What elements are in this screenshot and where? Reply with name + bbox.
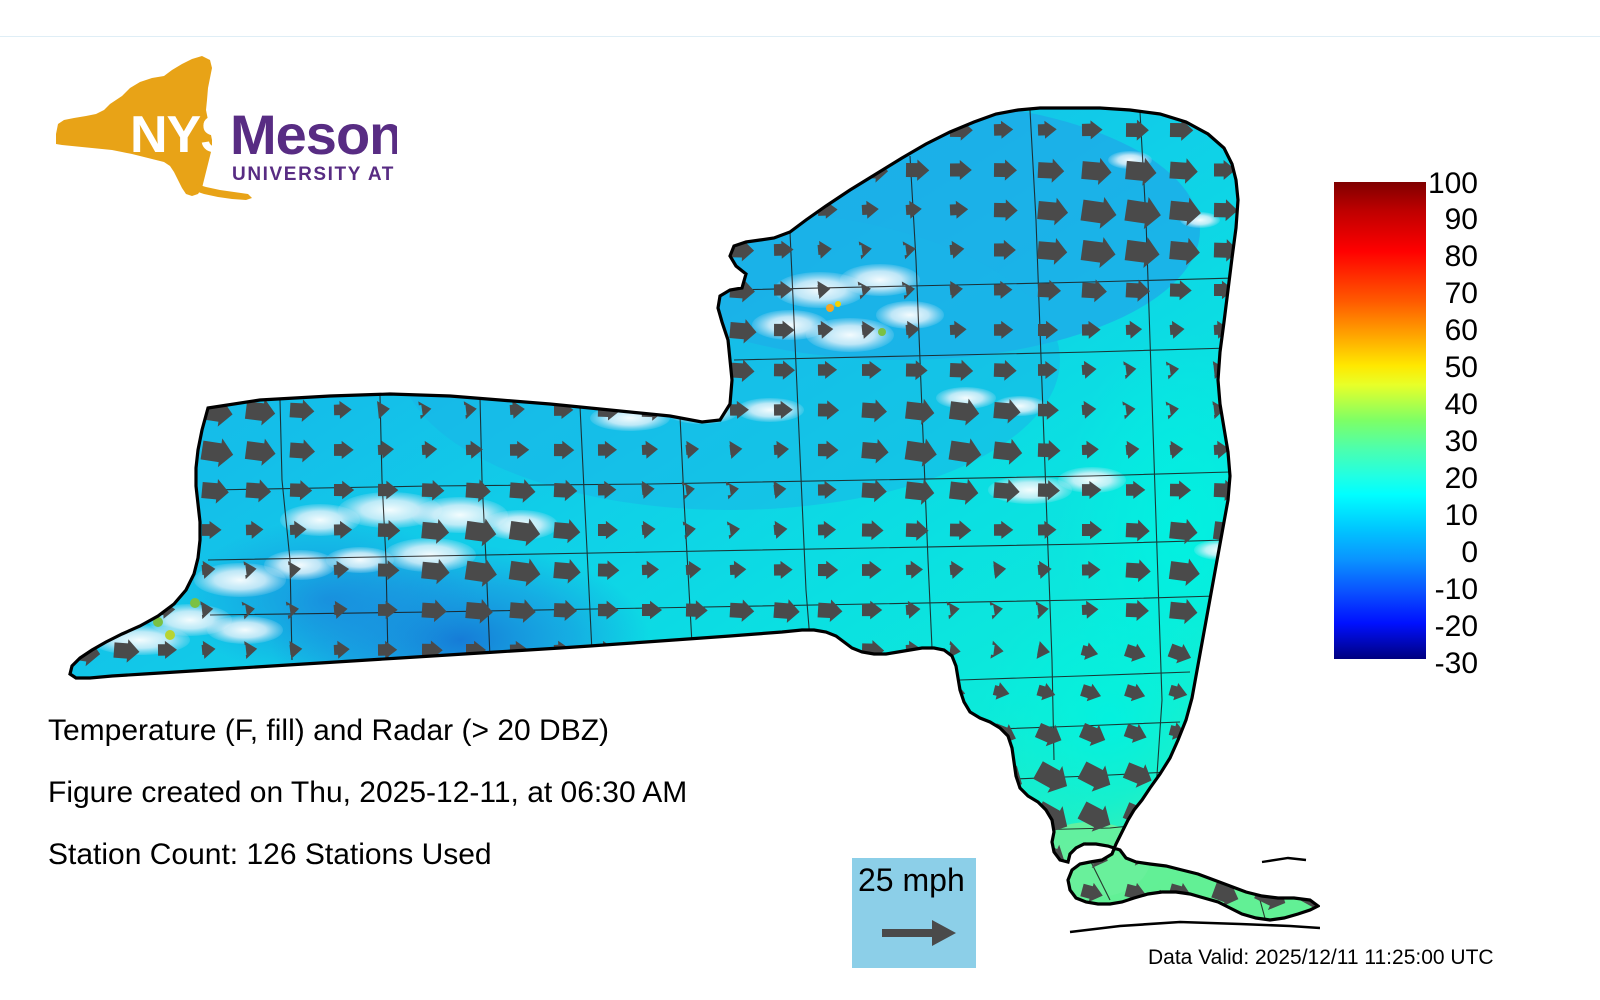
- wind-vector: [728, 676, 762, 708]
- wind-vector: [378, 280, 401, 301]
- wind-vector: [773, 158, 801, 184]
- figure-title-line: Temperature (F, fill) and Radar (> 20 DB…: [48, 716, 808, 746]
- wind-vector: [289, 158, 316, 183]
- wind-vector: [158, 520, 179, 539]
- wind-vector: [418, 360, 433, 380]
- wind-vector: [334, 321, 353, 339]
- wind-vector: [466, 281, 485, 299]
- wind-vector: [1257, 160, 1273, 179]
- wind-vector: [510, 200, 531, 219]
- wind-vector: [554, 320, 577, 342]
- figure-canvas: NYS Mesonet UNIVERSITY AT ALBANY: [0, 0, 1600, 1000]
- wind-vector: [641, 200, 658, 219]
- wind-vector: [246, 160, 268, 180]
- colorbar-tick: 40: [1445, 390, 1478, 420]
- wind-vector: [510, 160, 529, 179]
- colorbar-tick-labels: 100 90 80 70 60 50 40 30 20 10 0 -10 -20…: [1418, 160, 1538, 690]
- wind-vector: [817, 157, 847, 184]
- wind-vector: [554, 280, 577, 301]
- wind-vector: [154, 280, 168, 299]
- wind-vector: [69, 480, 86, 499]
- wind-vector: [1257, 761, 1275, 781]
- colorbar-tick: 10: [1445, 501, 1478, 531]
- wind-vector: [1258, 281, 1278, 300]
- wind-vector: [157, 320, 174, 339]
- wind-vector: [1257, 517, 1288, 546]
- wind-vector: [465, 680, 481, 699]
- wind-vector: [902, 801, 930, 828]
- colorbar-tick: -30: [1435, 649, 1478, 679]
- wind-vector: [246, 240, 265, 259]
- wind-vector: [597, 200, 612, 219]
- wind-vector: [202, 160, 223, 179]
- wind-vector: [1210, 839, 1240, 868]
- wind-vector: [680, 919, 715, 940]
- wind-vector: [1168, 921, 1192, 940]
- wind-vector: [1301, 761, 1320, 781]
- wind-vector: [1302, 280, 1320, 302]
- wind-vector: [774, 200, 796, 220]
- station-count-line: Station Count: 126 Stations Used: [48, 840, 808, 870]
- wind-vector: [70, 321, 89, 339]
- wind-vector: [114, 159, 139, 182]
- wind-vector: [465, 197, 494, 224]
- wind-vector: [686, 238, 713, 263]
- wind-vector: [728, 636, 761, 667]
- wind-vector: [246, 120, 267, 140]
- colorbar-tick: 30: [1445, 427, 1478, 457]
- wind-vector: [70, 200, 89, 219]
- wind-vector: [376, 155, 412, 189]
- wind-vector: [906, 681, 925, 699]
- wind-vector: [1036, 921, 1057, 940]
- wind-vector: [509, 360, 525, 379]
- wind-vector: [1301, 359, 1320, 383]
- wind-vector: [202, 681, 220, 699]
- wind-vector: [70, 401, 90, 419]
- wind-vector: [156, 437, 188, 467]
- wind-vector: [70, 361, 90, 379]
- wind-vector: [378, 680, 400, 700]
- wind-vector: [947, 721, 973, 746]
- wind-vector: [504, 919, 541, 940]
- wind-vector: [108, 919, 142, 940]
- wind-vector: [685, 160, 702, 179]
- wind-vector: [1299, 641, 1320, 663]
- wind-vector: [597, 317, 628, 346]
- wind-vector: [597, 278, 625, 304]
- north-fork-line: [1262, 858, 1306, 862]
- wind-scale-arrow-icon: [880, 916, 960, 950]
- wind-vector: [860, 115, 897, 149]
- wind-vector: [685, 357, 715, 385]
- wind-vector: [1167, 800, 1196, 828]
- wind-vector: [635, 918, 675, 940]
- wind-vector: [598, 240, 620, 260]
- wind-vector: [289, 197, 318, 224]
- wind-vector: [859, 802, 881, 825]
- wind-vector: [422, 118, 448, 142]
- wind-vector: [1212, 761, 1232, 782]
- wind-vector: [112, 280, 126, 299]
- wind-vector: [1258, 321, 1278, 339]
- temperature-colorbar: [1334, 182, 1426, 659]
- wind-vector: [684, 316, 719, 349]
- wind-vector: [642, 681, 661, 699]
- colorbar-tick: 0: [1461, 538, 1478, 568]
- wind-vector: [1211, 641, 1238, 667]
- wind-vector: [1297, 838, 1320, 873]
- wind-vector: [421, 156, 455, 188]
- wind-vector: [552, 160, 566, 179]
- colorbar-tick: 90: [1445, 205, 1478, 235]
- wind-vector: [1167, 760, 1194, 785]
- colorbar-tick: -10: [1435, 575, 1478, 605]
- wind-vector: [290, 120, 311, 139]
- colorbar-tick: -20: [1435, 612, 1478, 642]
- wind-vector: [730, 160, 752, 180]
- wind-vector: [987, 797, 1029, 837]
- wind-vector: [462, 921, 491, 940]
- wind-vector: [510, 281, 529, 299]
- wind-vector: [246, 680, 264, 698]
- wind-vector: [201, 280, 215, 299]
- wind-vector: [685, 678, 713, 704]
- wind-vector: [1255, 641, 1279, 664]
- wind-vector: [817, 719, 842, 742]
- wind-vector: [422, 281, 442, 300]
- wind-vector: [989, 838, 1026, 874]
- figure-created-line: Figure created on Thu, 2025-12-11, at 06…: [48, 778, 808, 808]
- wind-vector: [685, 120, 703, 139]
- wind-vector: [546, 918, 588, 940]
- wind-vector: [290, 281, 311, 300]
- wind-vector: [510, 240, 532, 260]
- colorbar-tick: 60: [1445, 316, 1478, 346]
- wind-vector: [1258, 400, 1275, 419]
- wind-vector: [334, 280, 357, 302]
- wind-vector: [113, 200, 130, 219]
- wind-vector: [816, 841, 834, 862]
- wind-vector: [1254, 839, 1287, 871]
- wind-vector: [1302, 441, 1320, 459]
- wind-vector: [1214, 120, 1235, 139]
- wind-vector: [376, 360, 390, 379]
- wind-vector: [508, 680, 522, 699]
- wind-vector: [419, 922, 441, 940]
- wind-vector: [1256, 556, 1289, 587]
- wind-vector: [158, 160, 180, 180]
- wind-vector: [1301, 318, 1320, 343]
- wind-vector: [1302, 400, 1320, 420]
- colorbar-tick: 70: [1445, 279, 1478, 309]
- long-island-south-shore: [1070, 922, 1320, 932]
- wind-vector: [466, 158, 492, 183]
- colorbar-tick: 20: [1445, 464, 1478, 494]
- wind-vector: [1302, 519, 1320, 541]
- wind-vector: [70, 158, 96, 182]
- wind-vector: [1302, 480, 1320, 499]
- wind-vector: [287, 922, 311, 940]
- wind-vector: [157, 200, 172, 219]
- wind-vector: [1258, 240, 1279, 259]
- colorbar-tick: 50: [1445, 353, 1478, 383]
- wind-vector: [991, 920, 1017, 940]
- wind-vector: [465, 320, 480, 339]
- wind-vector: [1212, 597, 1244, 627]
- wind-vector: [1258, 360, 1276, 379]
- wind-vector: [68, 677, 100, 707]
- wind-vector: [1257, 120, 1275, 139]
- wind-vector: [334, 680, 356, 700]
- wind-vector: [114, 521, 134, 539]
- wind-vector: [1212, 721, 1227, 741]
- wind-vector: [1256, 681, 1271, 701]
- wind-vector: [814, 761, 841, 787]
- wind-vector: [201, 358, 228, 383]
- wind-vector: [154, 240, 169, 260]
- wind-vector: [421, 236, 454, 267]
- wind-vector: [815, 881, 837, 903]
- colorbar-tick: 80: [1445, 242, 1478, 272]
- wind-vector: [862, 720, 883, 740]
- wind-vector: [1302, 240, 1320, 259]
- wind-vector: [597, 358, 625, 384]
- wind-vector: [1298, 721, 1312, 740]
- wind-vector: [1301, 559, 1320, 583]
- wind-vector: [375, 194, 416, 232]
- wind-vector: [290, 238, 316, 262]
- data-valid-timestamp: Data Valid: 2025/12/11 11:25:00 UTC: [1148, 946, 1494, 970]
- wind-vector: [158, 681, 179, 700]
- wind-vector: [334, 120, 357, 141]
- wind-vector: [200, 240, 214, 259]
- wind-vector: [685, 638, 712, 664]
- wind-vector: [70, 520, 88, 539]
- wind-vector: [814, 920, 844, 940]
- wind-vector: [686, 400, 707, 419]
- wind-vector: [65, 920, 97, 940]
- wind-vector: [158, 560, 176, 579]
- wind-vector: [553, 200, 569, 219]
- wind-vector: [157, 397, 188, 426]
- wind-vector: [590, 918, 634, 940]
- wind-vector: [1299, 800, 1320, 825]
- wind-vector: [157, 478, 185, 504]
- wind-vector: [1254, 721, 1268, 740]
- wind-vector: [1256, 801, 1280, 824]
- wind-vector: [152, 919, 188, 940]
- wind-vector: [377, 320, 393, 339]
- wind-vector: [773, 116, 807, 148]
- wind-vector: [333, 236, 367, 268]
- wind-vector: [113, 439, 138, 462]
- wind-vector: [510, 120, 529, 139]
- wind-vector: [770, 921, 799, 940]
- wind-vector: [1212, 801, 1237, 825]
- wind-vector: [196, 919, 231, 940]
- wind-vector: [70, 560, 92, 580]
- wind-vector: [70, 440, 88, 459]
- wind-vector: [858, 761, 885, 787]
- wind-vector: [1300, 681, 1316, 701]
- wind-vector: [333, 156, 366, 187]
- wind-vector: [990, 879, 1020, 908]
- wind-vector: [1298, 160, 1312, 180]
- wind-vector: [420, 195, 457, 230]
- wind-vector: [1302, 599, 1320, 621]
- wind-vector: [465, 238, 492, 263]
- wind-vector: [114, 599, 138, 621]
- wind-vector: [202, 320, 220, 339]
- wind-vector: [202, 119, 227, 142]
- caption-block: Temperature (F, fill) and Radar (> 20 DB…: [48, 716, 808, 902]
- wind-vector: [640, 120, 654, 139]
- wind-vector: [69, 598, 98, 625]
- wind-vector: [551, 680, 565, 699]
- wind-vector: [114, 360, 135, 379]
- wind-vector: [730, 200, 752, 220]
- wind-vector: [1257, 200, 1275, 219]
- wind-vector: [1167, 839, 1197, 868]
- wind-vector: [862, 679, 886, 701]
- wind-vector: [1301, 200, 1315, 219]
- wind-vector: [422, 681, 441, 699]
- wind-vector: [640, 277, 672, 307]
- wind-vector: [553, 120, 567, 139]
- wind-vector: [334, 360, 351, 379]
- wind-vector: [684, 277, 716, 307]
- top-hairline: [0, 36, 1600, 37]
- wind-vector: [642, 239, 667, 262]
- wind-vector: [594, 120, 608, 140]
- wind-vector: [817, 677, 848, 706]
- wind-vector: [69, 240, 86, 259]
- wind-vector: [772, 676, 807, 709]
- wind-vector: [114, 560, 135, 579]
- wind-vector: [114, 480, 136, 500]
- wind-vector: [246, 280, 263, 299]
- wind-vector: [332, 195, 369, 230]
- wind-vector: [68, 115, 103, 148]
- wind-vector: [290, 321, 310, 340]
- wind-scale-label: 25 mph: [858, 862, 965, 898]
- wind-vector: [639, 160, 653, 179]
- wind-vector: [1258, 441, 1277, 459]
- wind-vector: [640, 357, 672, 387]
- wind-vector: [331, 921, 351, 940]
- wind-vector: [113, 320, 129, 339]
- wind-vector: [378, 119, 404, 143]
- wind-vector: [466, 119, 489, 140]
- wind-vector: [594, 160, 609, 180]
- wind-vector: [69, 280, 86, 299]
- wind-vector: [554, 240, 575, 259]
- wind-vector: [686, 200, 706, 219]
- wind-vector: [906, 721, 926, 739]
- wind-vector: [597, 680, 612, 699]
- wind-vector: [816, 114, 854, 150]
- wind-vector: [246, 321, 266, 339]
- wind-vector: [1035, 880, 1064, 907]
- wind-vector: [158, 359, 182, 381]
- wind-vector: [725, 920, 755, 940]
- wind-vector: [290, 681, 310, 699]
- wind-vector: [945, 798, 979, 831]
- wind-vector: [111, 240, 125, 259]
- warm-zone-hudson: [980, 590, 1240, 850]
- wind-vector: [375, 921, 394, 940]
- wind-vector: [241, 920, 271, 940]
- wind-vector: [901, 760, 931, 790]
- wind-vector: [510, 320, 527, 339]
- wind-vector: [1257, 598, 1286, 625]
- wind-vector: [640, 316, 676, 350]
- wind-vector: [113, 399, 138, 422]
- colorbar-tick: 100: [1428, 169, 1478, 199]
- wind-vector: [290, 360, 312, 381]
- wind-vector: [421, 320, 435, 339]
- wind-vector: [113, 679, 139, 703]
- wind-vector: [112, 115, 148, 148]
- wind-vector: [157, 117, 188, 146]
- wind-vector: [945, 758, 980, 792]
- wind-vector: [201, 200, 217, 219]
- wind-vector: [1301, 120, 1315, 139]
- wind-vector: [245, 358, 272, 383]
- wind-vector: [730, 119, 755, 142]
- wind-vector: [554, 360, 575, 379]
- wind-vector: [1258, 479, 1282, 501]
- wind-vector: [815, 801, 836, 823]
- wind-vector: [1212, 681, 1230, 702]
- wind-vector: [376, 235, 412, 269]
- wind-vector: [246, 200, 267, 219]
- wind-vector: [462, 360, 476, 379]
- wind-vector: [772, 636, 807, 669]
